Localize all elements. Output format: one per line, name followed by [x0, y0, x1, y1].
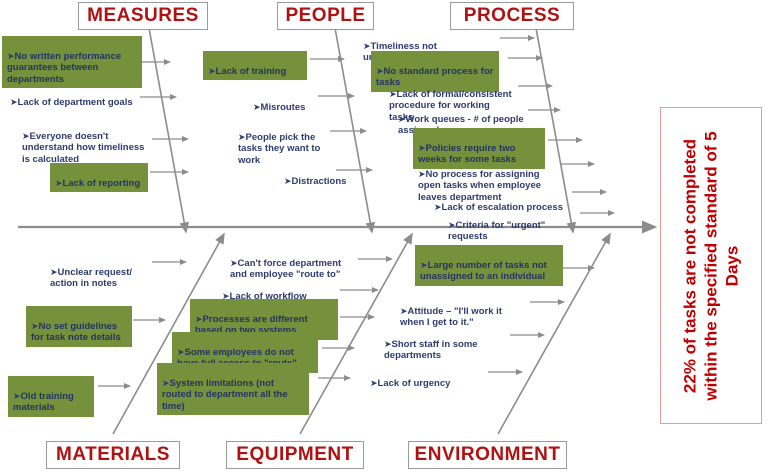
cause-label: Attitude – "I'll work it when I get to i…: [400, 306, 502, 329]
cause-label: Criteria for "urgent" requests: [448, 220, 545, 243]
bullet-icon: ➤: [418, 169, 426, 179]
problem-statement-text: 22% of tasks are not completed within th…: [680, 116, 743, 416]
bullet-icon: ➤: [284, 176, 292, 186]
rib-measures: [149, 28, 186, 232]
cause-item-measures-4[interactable]: ➤Lack of reporting: [50, 163, 148, 192]
bullet-icon: ➤: [370, 378, 378, 388]
cause-item-materials-2[interactable]: ➤No set guidelines for task note details: [26, 306, 132, 347]
bullet-icon: ➤: [50, 267, 58, 277]
cause-item-measures-2[interactable]: ➤Lack of department goals: [10, 85, 138, 108]
bullet-icon: ➤: [238, 132, 246, 142]
cause-item-equipment-1[interactable]: ➤Can't force department and employee "ro…: [230, 246, 356, 281]
cause-item-environment-4[interactable]: ➤Lack of urgency: [370, 366, 472, 389]
bullet-icon: ➤: [230, 258, 238, 268]
bullet-icon: ➤: [398, 114, 406, 124]
cause-item-environment-3[interactable]: ➤Short staff in some departments: [384, 327, 496, 362]
cause-item-materials-3[interactable]: ➤Old training materials: [8, 376, 94, 417]
bullet-icon: ➤: [420, 260, 428, 270]
fishbone-diagram: MEASURES PEOPLE PROCESS MATERIALS EQUIPM…: [0, 0, 768, 474]
bullet-icon: ➤: [208, 66, 216, 76]
cause-item-environment-2[interactable]: ➤Attitude – "I'll work it when I get to …: [400, 294, 522, 329]
bullet-icon: ➤: [448, 220, 456, 230]
cause-item-environment-1[interactable]: ➤Large number of tasks not unassigned to…: [415, 245, 563, 286]
cause-label: Distractions: [292, 176, 347, 187]
category-header-people[interactable]: PEOPLE: [277, 2, 374, 30]
bullet-icon: ➤: [434, 202, 442, 212]
category-header-process[interactable]: PROCESS: [450, 2, 574, 30]
category-header-measures[interactable]: MEASURES: [78, 2, 208, 30]
cause-label: Can't force department and employee "rou…: [230, 258, 341, 281]
cause-label: Large number of tasks not unassigned to …: [420, 260, 547, 283]
cause-item-materials-1[interactable]: ➤Unclear request/ action in notes: [50, 255, 148, 290]
cause-label: No set guidelines for task note details: [31, 321, 121, 344]
cause-label: Lack of department goals: [18, 97, 133, 108]
bullet-icon: ➤: [389, 89, 397, 99]
cause-item-people-2[interactable]: ➤Misroutes: [253, 90, 323, 113]
cause-item-people-1[interactable]: ➤Lack of training: [203, 51, 307, 80]
category-header-equipment[interactable]: EQUIPMENT: [226, 441, 364, 469]
bullet-icon: ➤: [253, 102, 261, 112]
cause-label: Lack of training: [216, 66, 287, 77]
bullet-icon: ➤: [363, 41, 371, 51]
bullet-icon: ➤: [195, 314, 203, 324]
cause-label: Everyone doesn't understand how timeline…: [22, 131, 144, 165]
cause-label: Unclear request/ action in notes: [50, 267, 132, 290]
bullet-icon: ➤: [162, 378, 170, 388]
cause-item-people-3[interactable]: ➤People pick the tasks they want to work: [238, 120, 334, 166]
problem-statement-box[interactable]: 22% of tasks are not completed within th…: [660, 107, 762, 424]
cause-item-process-8[interactable]: ➤Criteria for "urgent" requests: [448, 208, 584, 243]
category-header-materials[interactable]: MATERIALS: [46, 441, 180, 469]
cause-label: Lack of urgency: [378, 378, 451, 389]
cause-label: No written performance guarantees betwee…: [7, 51, 121, 85]
bullet-icon: ➤: [10, 97, 18, 107]
bullet-icon: ➤: [384, 339, 392, 349]
bullet-icon: ➤: [55, 178, 63, 188]
cause-item-measures-1[interactable]: ➤No written performance guarantees betwe…: [2, 36, 142, 88]
cause-label: Misroutes: [261, 102, 306, 113]
bullet-icon: ➤: [7, 51, 15, 61]
cause-label: Short staff in some departments: [384, 339, 478, 362]
bullet-icon: ➤: [418, 143, 426, 153]
cause-item-equipment-5[interactable]: ➤System limitations (not routed to depar…: [157, 363, 309, 415]
cause-label: System limitations (not routed to depart…: [162, 378, 288, 412]
cause-item-people-4[interactable]: ➤Distractions: [284, 164, 350, 187]
bullet-icon: ➤: [376, 66, 384, 76]
bullet-icon: ➤: [22, 131, 30, 141]
bullet-icon: ➤: [31, 321, 39, 331]
bullet-icon: ➤: [400, 306, 408, 316]
cause-item-measures-3[interactable]: ➤Everyone doesn't understand how timelin…: [22, 119, 154, 165]
cause-label: People pick the tasks they want to work: [238, 132, 320, 166]
bullet-icon: ➤: [177, 347, 185, 357]
category-header-environment[interactable]: ENVIRONMENT: [408, 441, 567, 469]
cause-label: Old training materials: [13, 391, 74, 414]
bullet-icon: ➤: [13, 391, 21, 401]
cause-label: Lack of reporting: [63, 178, 141, 189]
